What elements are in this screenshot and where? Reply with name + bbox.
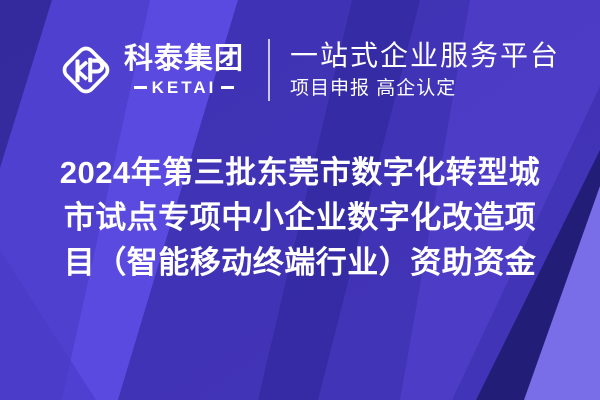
title-line-1: 2024年第三批东莞市数字化转型城 xyxy=(14,150,586,195)
header-divider xyxy=(268,39,270,101)
title-line-2: 市试点专项中小企业数字化改造项 xyxy=(14,195,586,240)
banner-header: 科泰集团 KETAI 一站式企业服务平台 项目申报 高企认定 xyxy=(0,0,600,140)
brand-dash-right-icon xyxy=(221,86,234,89)
brand-dash-left-icon xyxy=(134,86,147,89)
title-line-3: 目（智能移动终端行业）资助资金 xyxy=(14,240,586,285)
ketai-diamond-logo-icon xyxy=(58,42,114,98)
brand-name-en-row: KETAI xyxy=(134,79,235,96)
tagline-sub: 项目申报 高企认定 xyxy=(290,78,560,100)
banner-title: 2024年第三批东莞市数字化转型城 市试点专项中小企业数字化改造项 目（智能移动… xyxy=(0,150,600,285)
brand-text: 科泰集团 KETAI xyxy=(124,45,244,96)
brand-name-en: KETAI xyxy=(152,79,217,96)
tagline-main: 一站式企业服务平台 xyxy=(290,40,560,72)
brand-lockup: 科泰集团 KETAI xyxy=(58,42,244,98)
promo-banner: 科泰集团 KETAI 一站式企业服务平台 项目申报 高企认定 2024年第三批东… xyxy=(0,0,600,400)
brand-name-cn: 科泰集团 xyxy=(124,45,244,74)
tagline-block: 一站式企业服务平台 项目申报 高企认定 xyxy=(290,40,560,100)
